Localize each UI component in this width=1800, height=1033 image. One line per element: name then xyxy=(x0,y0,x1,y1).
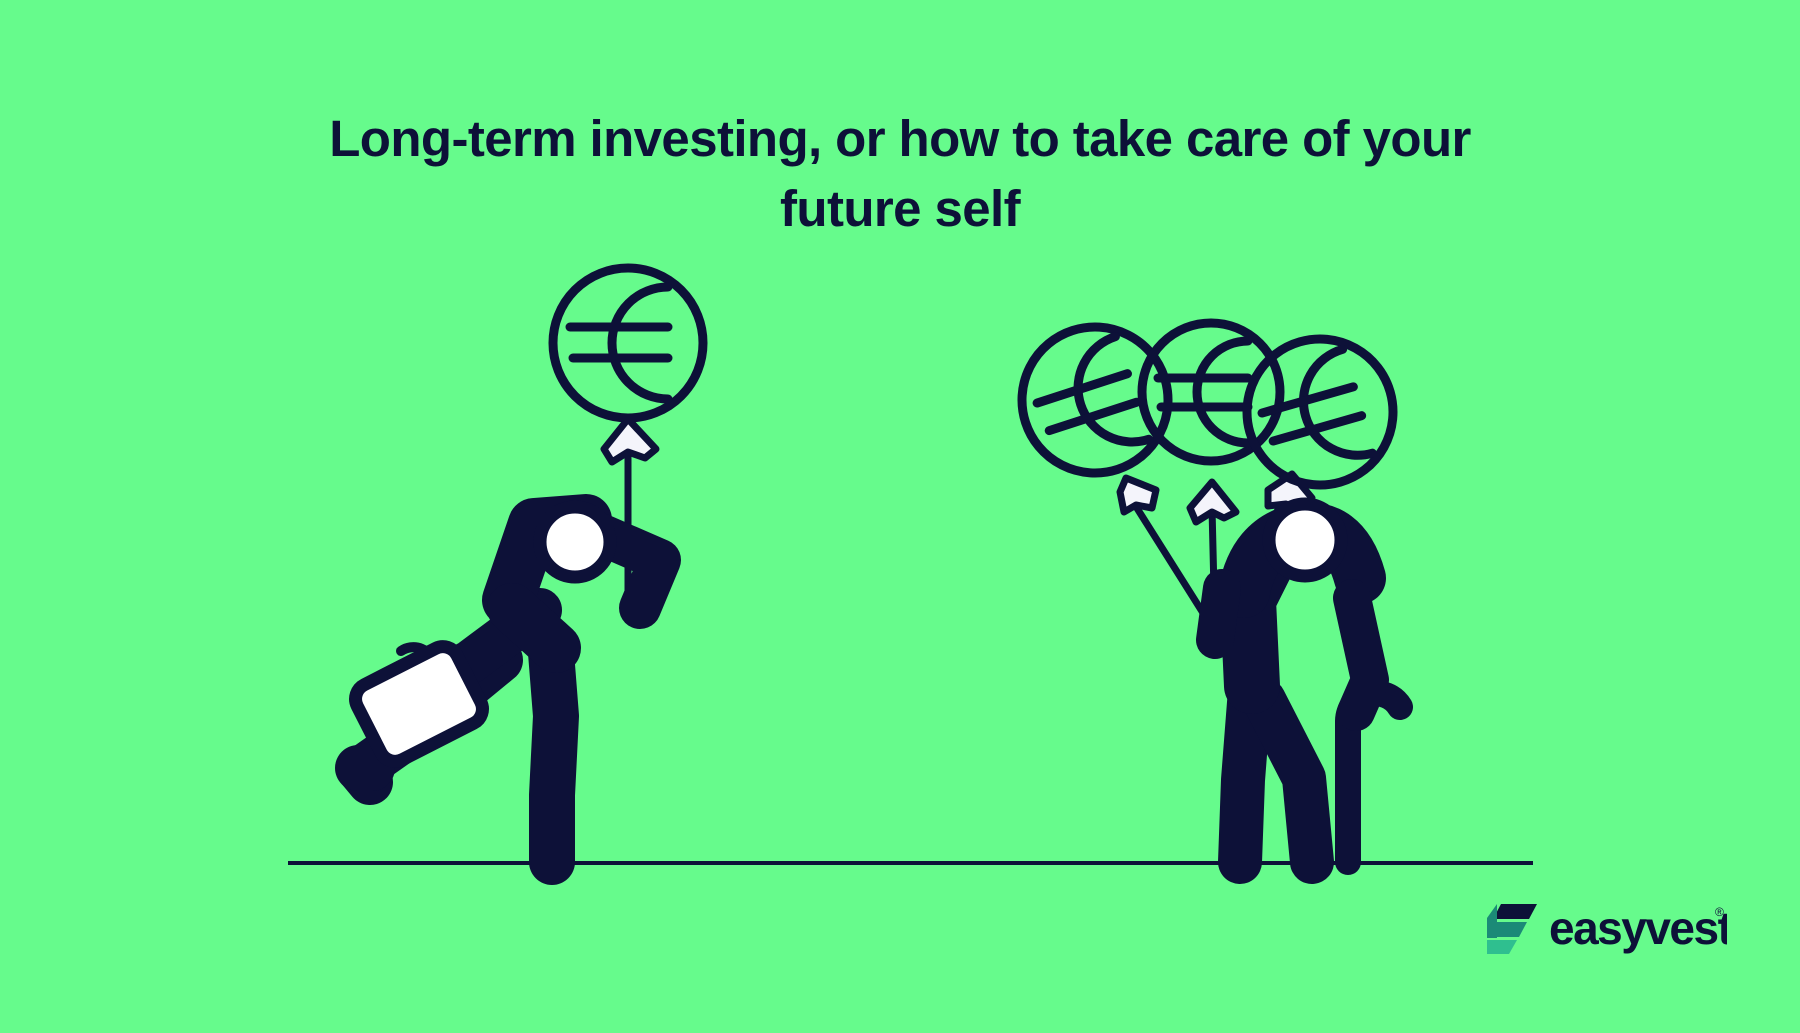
easyvest-trademark-symbol: ® xyxy=(1715,905,1724,919)
running-person xyxy=(350,507,660,862)
easyvest-wordmark: easyvest xyxy=(1549,902,1727,954)
balloon-outer-circle xyxy=(1003,308,1187,492)
balloon-knot-right-2 xyxy=(1190,482,1236,522)
elderly-left-arm xyxy=(1215,588,1222,640)
elderly-right-arm xyxy=(1352,598,1370,712)
runner-head xyxy=(540,507,610,577)
euro-sign-arc xyxy=(1064,337,1149,456)
illustration-canvas: Long-term investing, or how to take care… xyxy=(0,0,1800,1033)
euro-balloon-left xyxy=(553,268,703,418)
elderly-person xyxy=(1215,504,1400,862)
illustration-svg xyxy=(0,0,1800,1033)
elderly-front-leg xyxy=(1264,700,1312,862)
euro-sign-arc xyxy=(612,287,668,399)
balloon-outer-circle xyxy=(1230,322,1411,503)
balloon-outer-circle xyxy=(1142,323,1280,461)
left-scene-runner-group xyxy=(350,268,703,862)
right-scene-elderly-group xyxy=(1003,308,1410,862)
logo-bar-bottom-icon xyxy=(1487,940,1517,954)
euro-balloon-right-3 xyxy=(1230,322,1411,503)
balloon-knot-left xyxy=(604,419,656,462)
balloon-knot-right-1 xyxy=(1120,478,1156,512)
euro-balloon-right-1 xyxy=(1003,308,1187,492)
euro-sign-arc xyxy=(1291,349,1373,468)
logo-bar-top-icon xyxy=(1493,904,1537,919)
runner-hip xyxy=(512,608,556,648)
euro-balloon-right-2 xyxy=(1142,323,1280,461)
euro-sign-arc xyxy=(1197,341,1248,443)
easyvest-logo-mark xyxy=(1487,904,1537,954)
logo-accent-wedge-icon xyxy=(1487,904,1497,938)
elderly-head xyxy=(1269,504,1341,576)
balloon-outer-circle xyxy=(553,268,703,418)
easyvest-logo[interactable]: easyvest ® xyxy=(1487,898,1727,960)
runner-front-leg xyxy=(550,640,556,862)
